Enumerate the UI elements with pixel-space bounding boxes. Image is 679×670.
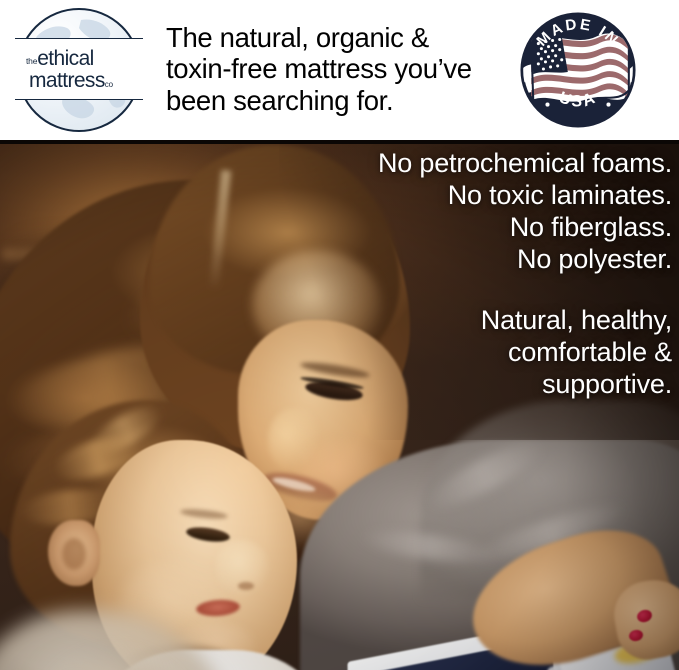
overlay-line-7: supportive.: [252, 369, 672, 401]
hero-photo: No petrochemical foams. No toxic laminat…: [0, 140, 679, 670]
overlay-line-4: No polyester.: [252, 244, 672, 276]
overlay-line-6: comfortable &: [252, 337, 672, 369]
headline-line-3: been searching for.: [166, 85, 511, 116]
overlay-copy: No petrochemical foams. No toxic laminat…: [252, 148, 672, 401]
overlay-line-1: No petrochemical foams.: [252, 148, 672, 180]
logo-word-mattress: mattress: [29, 70, 105, 91]
overlay-line-2: No toxic laminates.: [252, 180, 672, 212]
photo-letterbox: [0, 140, 679, 144]
logo-word-co: co: [105, 81, 113, 89]
headline: The natural, organic & toxin-free mattre…: [166, 22, 511, 116]
overlay-copy-block-2: Natural, healthy, comfortable & supporti…: [252, 305, 672, 401]
overlay-copy-block-1: No petrochemical foams. No toxic laminat…: [252, 148, 672, 275]
logo-nameplate: the ethical mattress co: [15, 38, 143, 100]
ad-banner: the ethical mattress co The natural, org…: [0, 0, 679, 670]
child-ear-inner: [62, 538, 86, 570]
brand-logo[interactable]: the ethical mattress co: [17, 8, 141, 132]
overlay-line-5: Natural, healthy,: [252, 305, 672, 337]
headline-line-1: The natural, organic &: [166, 22, 511, 53]
logo-word-the: the: [26, 57, 37, 66]
headline-line-2: toxin-free mattress you’ve: [166, 53, 511, 84]
made-in-usa-seal-icon: MADE IN USA: [517, 9, 639, 131]
made-in-usa-badge: MADE IN USA: [517, 9, 639, 131]
child-nostril: [238, 582, 254, 590]
logo-word-ethical: ethical: [37, 48, 94, 69]
header-bar: the ethical mattress co The natural, org…: [0, 0, 679, 140]
overlay-line-3: No fiberglass.: [252, 212, 672, 244]
mother-nose: [268, 408, 320, 472]
